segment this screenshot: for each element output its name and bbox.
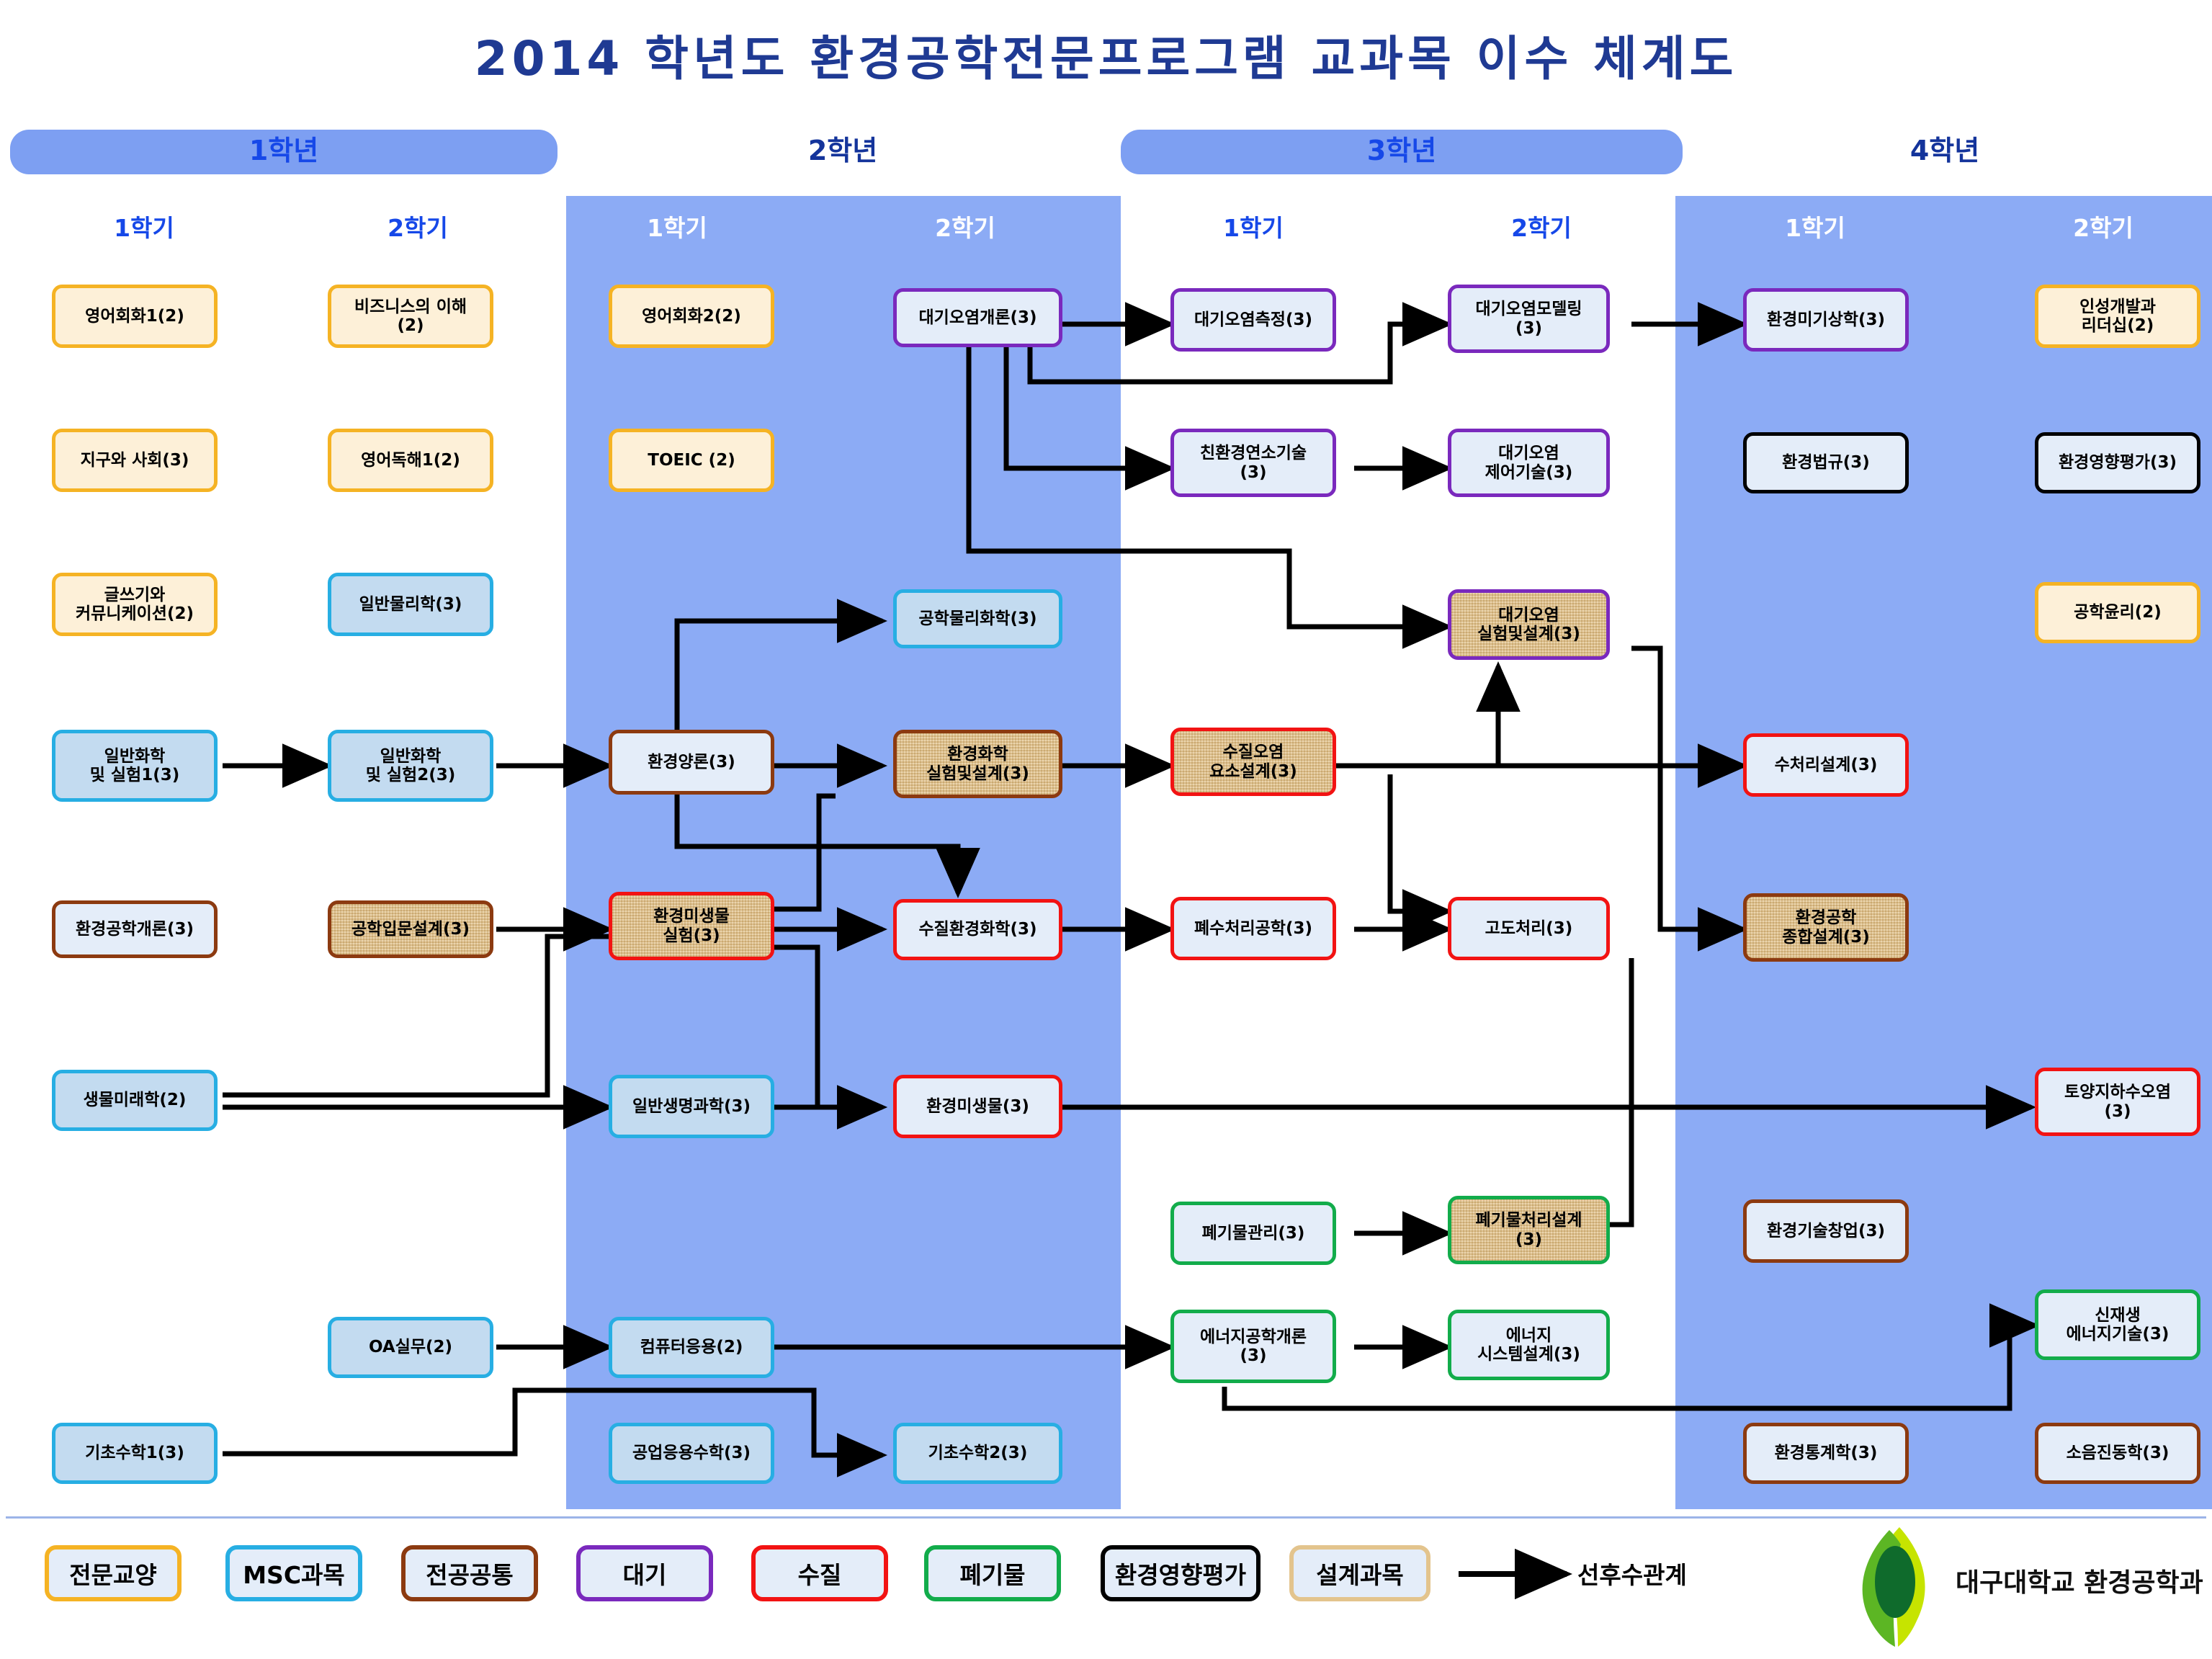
course-box[interactable]: 환경미생물 실험(3) <box>609 892 774 960</box>
university-name: 대구대학교 환경공학과 <box>1956 1562 2203 1599</box>
course-box[interactable]: TOEIC (2) <box>609 429 774 492</box>
course-box[interactable]: 친환경연소기술 (3) <box>1170 429 1336 497</box>
legend-item-gongtong: 전공공통 <box>401 1545 538 1601</box>
course-box[interactable]: 글쓰기와 커뮤니케이션(2) <box>52 573 218 636</box>
sem-label-y1s2: 2학기 <box>339 209 497 243</box>
course-box[interactable]: 컴퓨터응용(2) <box>609 1317 774 1378</box>
course-box[interactable]: 폐수처리공학(3) <box>1170 897 1336 960</box>
course-box[interactable]: 영어회화1(2) <box>52 285 218 348</box>
course-box[interactable]: 환경미생물(3) <box>893 1075 1062 1138</box>
sem-label-y2s2: 2학기 <box>886 209 1044 243</box>
page-title: 2014 학년도 환경공학전문프로그램 교과목 이수 체계도 <box>0 20 2212 89</box>
legend-item-daegi: 대기 <box>576 1545 713 1601</box>
course-box[interactable]: 생물미래학(2) <box>52 1070 218 1131</box>
course-box[interactable]: 대기오염 실험및설계(3) <box>1448 589 1610 660</box>
sem-label-y4s1: 1학기 <box>1736 209 1894 243</box>
course-box[interactable]: 공학윤리(2) <box>2035 582 2200 643</box>
legend-arrow-label: 선후수관계 <box>1577 1556 1687 1591</box>
course-box[interactable]: 환경공학개론(3) <box>52 900 218 958</box>
course-box[interactable]: 대기오염측정(3) <box>1170 288 1336 352</box>
course-box[interactable]: 소음진동학(3) <box>2035 1423 2200 1484</box>
legend-item-design: 설계과목 <box>1289 1545 1430 1601</box>
course-box[interactable]: 폐기물처리설계 (3) <box>1448 1196 1610 1264</box>
course-box[interactable]: 영어회화2(2) <box>609 285 774 348</box>
course-box[interactable]: 수질환경화학(3) <box>893 899 1062 960</box>
year-label-1: 1학년 <box>10 130 558 174</box>
course-box[interactable]: 기초수학2(3) <box>893 1423 1062 1484</box>
course-box[interactable]: 기초수학1(3) <box>52 1423 218 1484</box>
course-box[interactable]: 수질오염 요소설계(3) <box>1170 728 1336 796</box>
course-box[interactable]: 일반화학 및 실험2(3) <box>328 730 493 802</box>
course-box[interactable]: 환경법규(3) <box>1743 432 1909 493</box>
year2-column-shade <box>566 196 1121 1509</box>
course-box[interactable]: 공업응용수학(3) <box>609 1423 774 1484</box>
year-label-4: 4학년 <box>1678 130 2211 174</box>
course-box[interactable]: 환경공학 종합설계(3) <box>1743 893 1909 962</box>
year-label-3: 3학년 <box>1121 130 1683 174</box>
legend-item-hpyeong: 환경영향평가 <box>1101 1545 1261 1601</box>
course-box[interactable]: 영어독해1(2) <box>328 429 493 492</box>
course-box[interactable]: 대기오염 제어기술(3) <box>1448 429 1610 497</box>
legend-item-gyoyang: 전문교양 <box>45 1545 182 1601</box>
legend-item-msc: MSC과목 <box>225 1545 362 1601</box>
course-box[interactable]: 환경영향평가(3) <box>2035 432 2200 493</box>
course-box[interactable]: 에너지공학개론 (3) <box>1170 1310 1336 1383</box>
course-box[interactable]: 신재생 에너지기술(3) <box>2035 1289 2200 1360</box>
university-logo-icon <box>1848 1526 1941 1648</box>
sem-label-y3s2: 2학기 <box>1462 209 1621 243</box>
course-box[interactable]: 공학입문설계(3) <box>328 900 493 958</box>
course-box[interactable]: 대기오염개론(3) <box>893 288 1062 347</box>
sem-label-y1s1: 1학기 <box>65 209 223 243</box>
course-box[interactable]: 비즈니스의 이해 (2) <box>328 285 493 348</box>
course-box[interactable]: 수처리설계(3) <box>1743 733 1909 797</box>
course-box[interactable]: 일반생명과학(3) <box>609 1075 774 1138</box>
course-box[interactable]: 공학물리화학(3) <box>893 589 1062 648</box>
course-box[interactable]: 일반물리학(3) <box>328 573 493 636</box>
year-label-2: 2학년 <box>569 130 1116 174</box>
curriculum-flowchart-page: 2014 학년도 환경공학전문프로그램 교과목 이수 체계도 1학년 2학년 3… <box>0 0 2212 1659</box>
legend-arrow-icon <box>1455 1549 1585 1599</box>
legend-item-sujil: 수질 <box>751 1545 888 1601</box>
course-box[interactable]: 토양지하수오염 (3) <box>2035 1068 2200 1136</box>
course-box[interactable]: 인성개발과 리더십(2) <box>2035 285 2200 348</box>
sem-label-y4s2: 2학기 <box>2024 209 2182 243</box>
course-box[interactable]: 환경양론(3) <box>609 730 774 795</box>
course-box[interactable]: OA실무(2) <box>328 1317 493 1378</box>
legend-divider <box>6 1516 2206 1519</box>
sem-label-y3s1: 1학기 <box>1174 209 1333 243</box>
course-box[interactable]: 일반화학 및 실험1(3) <box>52 730 218 802</box>
legend-item-pyegi: 폐기물 <box>924 1545 1061 1601</box>
course-box[interactable]: 에너지 시스템설계(3) <box>1448 1310 1610 1380</box>
course-box[interactable]: 환경화학 실험및설계(3) <box>893 730 1062 798</box>
sem-label-y2s1: 1학기 <box>598 209 756 243</box>
course-box[interactable]: 폐기물관리(3) <box>1170 1202 1336 1265</box>
course-box[interactable]: 고도처리(3) <box>1448 897 1610 960</box>
course-box[interactable]: 환경통계학(3) <box>1743 1423 1909 1484</box>
course-box[interactable]: 대기오염모델링 (3) <box>1448 285 1610 353</box>
course-box[interactable]: 지구와 사회(3) <box>52 429 218 492</box>
course-box[interactable]: 환경미기상학(3) <box>1743 288 1909 352</box>
course-box[interactable]: 환경기술창업(3) <box>1743 1199 1909 1263</box>
